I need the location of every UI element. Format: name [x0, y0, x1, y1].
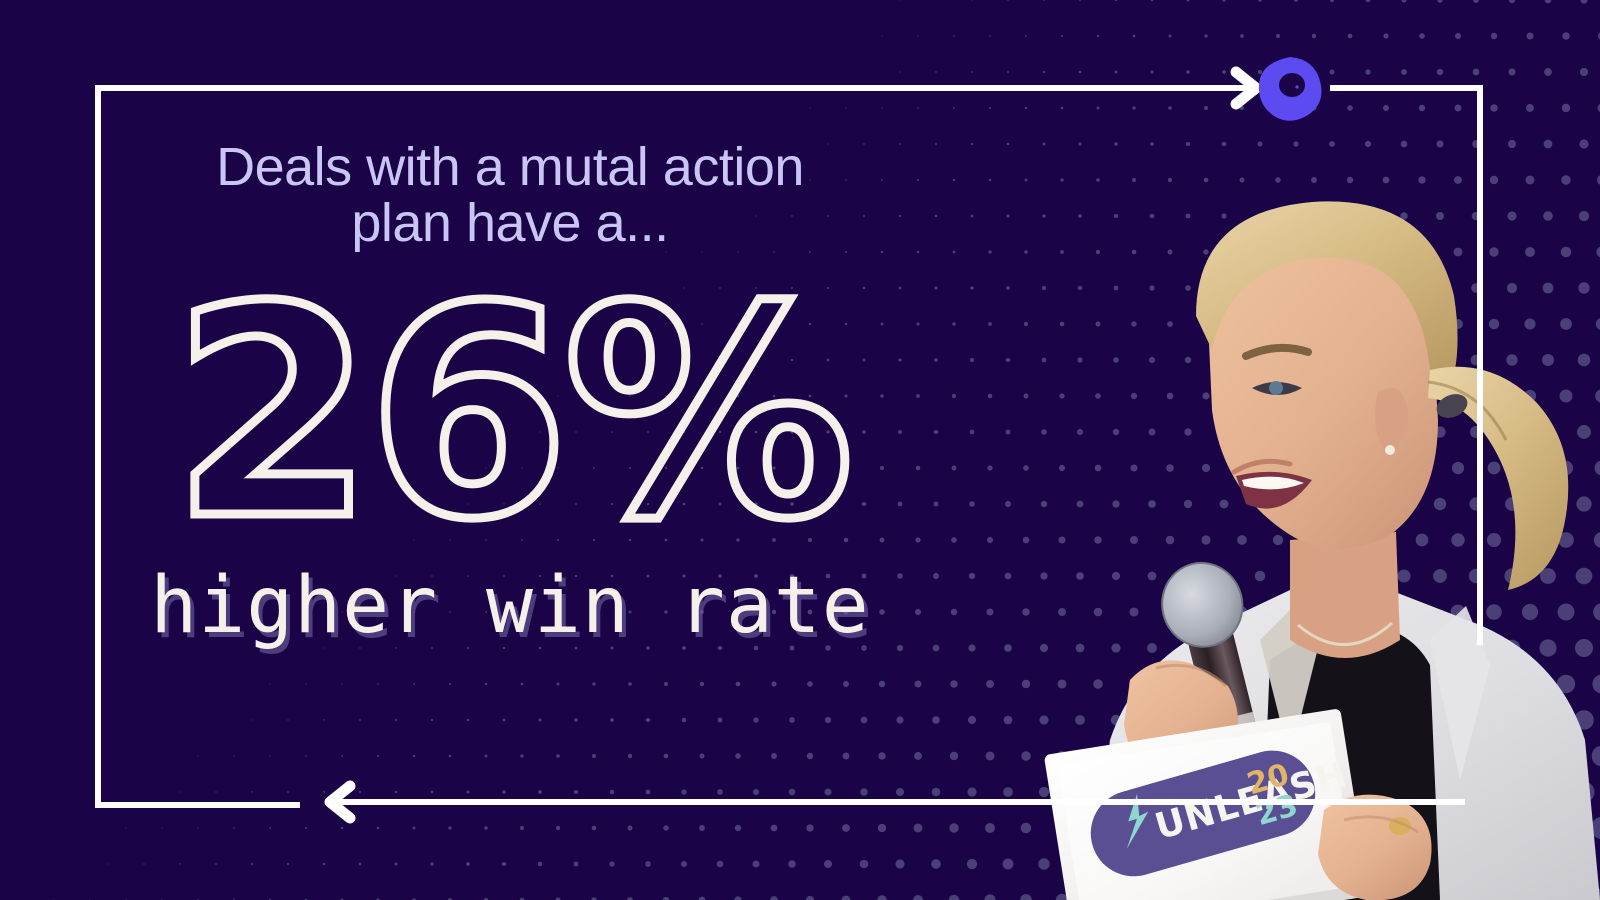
page-title: Deals with a mutal action plan have a... — [95, 140, 925, 251]
stat-value: 26% — [95, 277, 925, 553]
marketing-stat-graphic: UNLEASH 20 23 Deals with a — [0, 0, 1600, 900]
stat-label: higher win rate — [95, 567, 925, 645]
frame-border-top-left — [95, 85, 1053, 91]
bottom-arrow-shaft — [335, 799, 1465, 805]
frame-border-right — [1477, 85, 1483, 645]
speaker-photo: UNLEASH 20 23 — [960, 120, 1600, 900]
brand-logo-icon[interactable] — [1256, 55, 1324, 123]
copy-block: Deals with a mutal action plan have a...… — [95, 120, 925, 645]
headline-line-2: plan have a... — [351, 193, 668, 253]
top-arrow-shaft — [1040, 85, 1250, 91]
bottom-arrow-head-icon — [318, 780, 358, 824]
frame-border-top-right — [1330, 85, 1483, 91]
frame-border-bottom-left — [95, 802, 300, 808]
headline-line-1: Deals with a mutal action — [216, 137, 804, 197]
